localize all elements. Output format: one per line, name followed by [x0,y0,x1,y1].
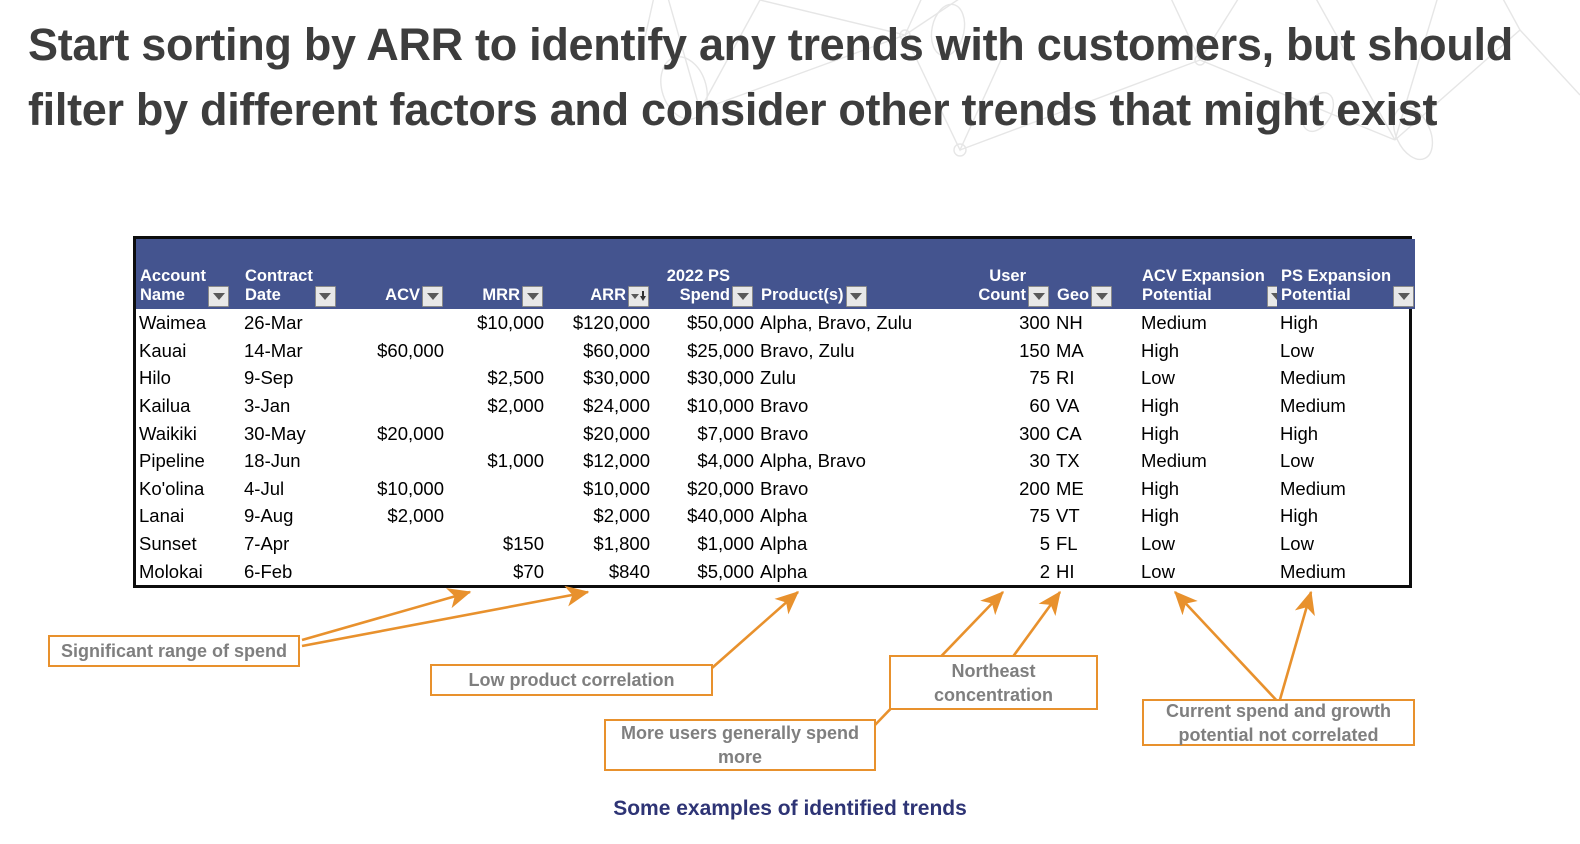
column-header-user_count[interactable]: UserCount [970,239,1053,309]
callout-label: Low product correlation [468,668,674,692]
column-header-label-line1: User [978,267,1026,286]
cell-account_name[interactable]: Hilo [136,364,241,392]
cell-contract_date[interactable]: 4-Jul [241,475,353,503]
cell-user_count[interactable]: 30 [970,447,1053,475]
cell-mrr[interactable] [447,337,547,365]
column-header-label-line2: Spend [667,286,730,305]
cell-contract_date[interactable]: 30-May [241,419,353,447]
cell-ps_expansion[interactable]: Low [1277,530,1415,558]
cell-geo[interactable]: MA [1053,337,1138,365]
column-header-label-line2: Potential [1142,286,1265,305]
cell-acv[interactable] [353,309,447,337]
table-row[interactable]: Ko'olina4-Jul$10,000$10,000$20,000Bravo2… [136,475,1415,503]
column-header-account_name[interactable]: AccountName [136,239,241,309]
cell-products[interactable]: Alpha [757,502,970,530]
cell-user_count[interactable]: 200 [970,475,1053,503]
table-row[interactable]: Kailua3-Jan$2,000$24,000$10,000Bravo60VA… [136,392,1415,420]
cell-acv_expansion[interactable]: Low [1138,364,1277,392]
cell-contract_date[interactable]: 9-Sep [241,364,353,392]
cell-arr[interactable]: $30,000 [547,364,653,392]
column-header-label: Geo [1057,286,1089,305]
cell-mrr[interactable]: $10,000 [447,309,547,337]
column-header-label-line2: Count [978,286,1026,305]
cell-ps_expansion[interactable]: Medium [1277,364,1415,392]
chevron-down-icon [1096,293,1108,300]
cell-user_count[interactable]: 300 [970,419,1053,447]
column-header-label-line2: Name [140,286,206,305]
cell-ps_expansion[interactable]: High [1277,502,1415,530]
callout-current-spend-growth-not-correlated[interactable]: Current spend and growth potential not c… [1142,699,1415,746]
column-header-label: ARR [590,286,626,305]
table-row[interactable]: Sunset7-Apr$150$1,800$1,000Alpha5FLLowLo… [136,530,1415,558]
chevron-down-icon [1033,293,1045,300]
column-header-arr[interactable]: ARR [547,239,653,309]
callout-more-users-generally-spend-more[interactable]: More users generally spend more [604,719,876,771]
arrow-down-icon [640,291,647,302]
cell-acv_expansion[interactable]: High [1138,475,1277,503]
cell-acv[interactable] [353,447,447,475]
cell-arr[interactable]: $120,000 [547,309,653,337]
cell-geo[interactable]: HI [1053,557,1138,585]
callout-northeast-concentration[interactable]: Northeast concentration [889,655,1098,710]
cell-arr[interactable]: $1,800 [547,530,653,558]
cell-account_name[interactable]: Ko'olina [136,475,241,503]
cell-arr[interactable]: $10,000 [547,475,653,503]
cell-acv_expansion[interactable]: High [1138,419,1277,447]
cell-ps_spend[interactable]: $4,000 [653,447,757,475]
column-header-label: ACV [385,286,420,305]
table-row[interactable]: Molokai6-Feb$70$840$5,000Alpha2HILowMedi… [136,557,1415,585]
cell-contract_date[interactable]: 6-Feb [241,557,353,585]
arrow-spend-range-1 [302,592,470,640]
cell-contract_date[interactable]: 7-Apr [241,530,353,558]
cell-mrr[interactable] [447,502,547,530]
callout-significant-range-of-spend[interactable]: Significant range of spend [48,635,300,667]
column-header-label-line2: Potential [1281,286,1391,305]
column-header-label: ACV ExpansionPotential [1142,267,1265,305]
cell-acv[interactable]: $10,000 [353,475,447,503]
cell-acv_expansion[interactable]: Low [1138,557,1277,585]
cell-account_name[interactable]: Pipeline [136,447,241,475]
cell-ps_spend[interactable]: $5,000 [653,557,757,585]
cell-ps_expansion[interactable]: Medium [1277,392,1415,420]
column-header-contract_date[interactable]: ContractDate [241,239,353,309]
cell-products[interactable]: Alpha [757,557,970,585]
table-row[interactable]: Waikiki30-May$20,000$20,000$7,000Bravo30… [136,419,1415,447]
arrow-growth-left [1175,592,1279,703]
cell-ps_expansion[interactable]: Medium [1277,557,1415,585]
cell-ps_spend[interactable]: $10,000 [653,392,757,420]
cell-products[interactable]: Bravo [757,419,970,447]
cell-contract_date[interactable]: 26-Mar [241,309,353,337]
chevron-down-icon [631,294,639,299]
cell-account_name[interactable]: Waimea [136,309,241,337]
cell-ps_spend[interactable]: $20,000 [653,475,757,503]
cell-acv[interactable] [353,557,447,585]
column-header-label-line1: ACV Expansion [1142,267,1265,286]
cell-geo[interactable]: VT [1053,502,1138,530]
arrow-spend-range-2 [302,592,588,646]
cell-geo[interactable]: TX [1053,447,1138,475]
cell-acv[interactable]: $20,000 [353,419,447,447]
cell-ps_spend[interactable]: $40,000 [653,502,757,530]
filter-dropdown-icon[interactable] [1028,286,1049,307]
table-row[interactable]: Lanai9-Aug$2,000$2,000$40,000Alpha75VTHi… [136,502,1415,530]
arrow-product-correlation [712,592,798,668]
arrow-northeast [1012,592,1060,658]
cell-arr[interactable]: $20,000 [547,419,653,447]
cell-ps_expansion[interactable]: Medium [1277,475,1415,503]
cell-products[interactable]: Alpha, Bravo, Zulu [757,309,970,337]
cell-geo[interactable]: FL [1053,530,1138,558]
column-header-acv[interactable]: ACV [353,239,447,309]
cell-products[interactable]: Bravo, Zulu [757,337,970,365]
callout-label: Current spend and growth potential not c… [1152,699,1405,747]
column-header-label: PS ExpansionPotential [1281,267,1391,305]
cell-acv_expansion[interactable]: High [1138,502,1277,530]
cell-acv_expansion[interactable]: Medium [1138,447,1277,475]
column-header-label: ContractDate [245,267,313,305]
slide-caption: Some examples of identified trends [0,797,1580,821]
column-header-ps_expansion[interactable]: PS ExpansionPotential [1277,239,1415,309]
page-title: Start sorting by ARR to identify any tre… [28,12,1558,142]
chevron-down-icon [527,293,539,300]
callout-label: Northeast concentration [899,659,1088,707]
column-header-label-line2: Date [245,286,313,305]
cell-mrr[interactable]: $150 [447,530,547,558]
callout-low-product-correlation[interactable]: Low product correlation [430,664,713,696]
column-header-label: UserCount [978,267,1026,305]
table-row[interactable]: Hilo9-Sep$2,500$30,000$30,000Zulu75RILow… [136,364,1415,392]
cell-ps_expansion[interactable]: Low [1277,337,1415,365]
cell-arr[interactable]: $840 [547,557,653,585]
column-header-label-line1: Contract [245,267,313,286]
table-row[interactable]: Waimea26-Mar$10,000$120,000$50,000Alpha,… [136,309,1415,337]
cell-user_count[interactable]: 150 [970,337,1053,365]
column-header-geo[interactable]: Geo [1053,239,1138,309]
cell-account_name[interactable]: Sunset [136,530,241,558]
column-header-label-line1: Account [140,267,206,286]
cell-account_name[interactable]: Kailua [136,392,241,420]
chevron-down-icon [737,293,749,300]
filter-dropdown-icon[interactable] [422,286,443,307]
filter-dropdown-icon[interactable] [522,286,543,307]
cell-geo[interactable]: RI [1053,364,1138,392]
cell-account_name[interactable]: Kauai [136,337,241,365]
chevron-down-icon [427,293,439,300]
cell-account_name[interactable]: Lanai [136,502,241,530]
cell-contract_date[interactable]: 14-Mar [241,337,353,365]
cell-arr[interactable]: $12,000 [547,447,653,475]
cell-products[interactable]: Zulu [757,364,970,392]
filter-dropdown-icon[interactable] [846,286,867,307]
column-header-ps_spend[interactable]: 2022 PSSpend [653,239,757,309]
cell-arr[interactable]: $60,000 [547,337,653,365]
cell-arr[interactable]: $24,000 [547,392,653,420]
sort-descending-filter-icon[interactable] [628,286,649,307]
cell-geo[interactable]: ME [1053,475,1138,503]
cell-contract_date[interactable]: 18-Jun [241,447,353,475]
cell-mrr[interactable]: $2,500 [447,364,547,392]
slide-canvas: Start sorting by ARR to identify any tre… [0,0,1580,844]
cell-acv[interactable] [353,392,447,420]
cell-mrr[interactable]: $70 [447,557,547,585]
cell-acv[interactable] [353,530,447,558]
cell-ps_expansion[interactable]: High [1277,309,1415,337]
chevron-down-icon [213,293,225,300]
accounts-table: AccountNameContractDateACVMRRARR2022 PSS… [136,239,1415,585]
cell-geo[interactable]: VA [1053,392,1138,420]
column-header-label-line1: PS Expansion [1281,267,1391,286]
cell-user_count[interactable]: 2 [970,557,1053,585]
column-header-label: MRR [482,286,520,305]
cell-geo[interactable]: CA [1053,419,1138,447]
cell-acv[interactable] [353,364,447,392]
column-header-label: 2022 PSSpend [667,267,730,305]
cell-acv_expansion[interactable]: Low [1138,530,1277,558]
filter-dropdown-icon[interactable] [1091,286,1112,307]
cell-account_name[interactable]: Molokai [136,557,241,585]
cell-contract_date[interactable]: 9-Aug [241,502,353,530]
chevron-down-icon [1398,293,1410,300]
cell-ps_spend[interactable]: $50,000 [653,309,757,337]
cell-contract_date[interactable]: 3-Jan [241,392,353,420]
cell-acv_expansion[interactable]: High [1138,337,1277,365]
cell-user_count[interactable]: 60 [970,392,1053,420]
cell-mrr[interactable]: $1,000 [447,447,547,475]
cell-mrr[interactable]: $2,000 [447,392,547,420]
cell-acv_expansion[interactable]: High [1138,392,1277,420]
chevron-down-icon [850,293,862,300]
cell-arr[interactable]: $2,000 [547,502,653,530]
cell-geo[interactable]: NH [1053,309,1138,337]
filter-dropdown-icon[interactable] [315,286,336,307]
column-header-acv_expansion[interactable]: ACV ExpansionPotential [1138,239,1277,309]
cell-products[interactable]: Alpha, Bravo [757,447,970,475]
chevron-down-icon [319,293,331,300]
cell-ps_spend[interactable]: $25,000 [653,337,757,365]
cell-products[interactable]: Bravo [757,475,970,503]
table-body: Waimea26-Mar$10,000$120,000$50,000Alpha,… [136,309,1415,585]
cell-mrr[interactable] [447,475,547,503]
cell-ps_expansion[interactable]: High [1277,419,1415,447]
data-table-container: AccountNameContractDateACVMRRARR2022 PSS… [133,236,1412,588]
column-header-label: Product(s) [761,286,844,305]
column-header-mrr[interactable]: MRR [447,239,547,309]
column-header-label-line1: 2022 PS [667,267,730,286]
filter-dropdown-icon[interactable] [1393,286,1414,307]
filter-dropdown-icon[interactable] [208,286,229,307]
cell-acv_expansion[interactable]: Medium [1138,309,1277,337]
arrow-growth-right [1279,592,1311,703]
cell-ps_expansion[interactable]: Low [1277,447,1415,475]
cell-user_count[interactable]: 75 [970,502,1053,530]
table-header-row: AccountNameContractDateACVMRRARR2022 PSS… [136,239,1415,309]
cell-account_name[interactable]: Waikiki [136,419,241,447]
cell-acv[interactable]: $2,000 [353,502,447,530]
cell-user_count[interactable]: 5 [970,530,1053,558]
cell-products[interactable]: Alpha [757,530,970,558]
column-header-products[interactable]: Product(s) [757,239,970,309]
cell-user_count[interactable]: 75 [970,364,1053,392]
callout-label: More users generally spend more [614,721,866,769]
table-row[interactable]: Pipeline18-Jun$1,000$12,000$4,000Alpha, … [136,447,1415,475]
cell-ps_spend[interactable]: $30,000 [653,364,757,392]
cell-products[interactable]: Bravo [757,392,970,420]
cell-ps_spend[interactable]: $1,000 [653,530,757,558]
cell-mrr[interactable] [447,419,547,447]
column-header-label: AccountName [140,267,206,305]
filter-dropdown-icon[interactable] [732,286,753,307]
cell-ps_spend[interactable]: $7,000 [653,419,757,447]
cell-acv[interactable]: $60,000 [353,337,447,365]
callout-label: Significant range of spend [61,639,287,663]
cell-user_count[interactable]: 300 [970,309,1053,337]
table-row[interactable]: Kauai14-Mar$60,000$60,000$25,000Bravo, Z… [136,337,1415,365]
